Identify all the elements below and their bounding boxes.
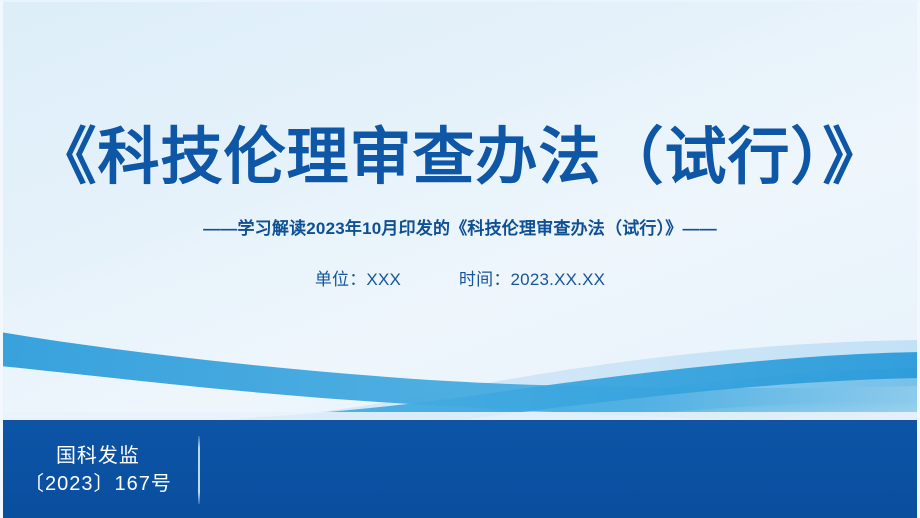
slide-content: 《科技伦理审查办法（试行）》 ——学习解读2023年10月印发的《科技伦理审查办… bbox=[0, 0, 920, 290]
title-slide: 国科发监 〔2023〕167号 《科技伦理审查办法（试行）》 ——学习解读202… bbox=[0, 0, 920, 518]
subtitle: ——学习解读2023年10月印发的《科技伦理审查办法（试行）》—— bbox=[0, 198, 920, 239]
document-number-line1: 国科发监 bbox=[24, 442, 172, 470]
footer-divider bbox=[198, 436, 200, 504]
document-number: 国科发监 〔2023〕167号 bbox=[24, 442, 172, 498]
footer-content: 国科发监 〔2023〕167号 bbox=[24, 436, 200, 504]
document-number-line2: 〔2023〕167号 bbox=[24, 470, 172, 498]
meta-row: 单位：XXX 时间：2023.XX.XX bbox=[0, 239, 920, 290]
date-label: 时间：2023.XX.XX bbox=[459, 265, 605, 290]
unit-label: 单位：XXX bbox=[315, 265, 401, 290]
page-title: 《科技伦理审查办法（试行）》 bbox=[0, 0, 920, 198]
